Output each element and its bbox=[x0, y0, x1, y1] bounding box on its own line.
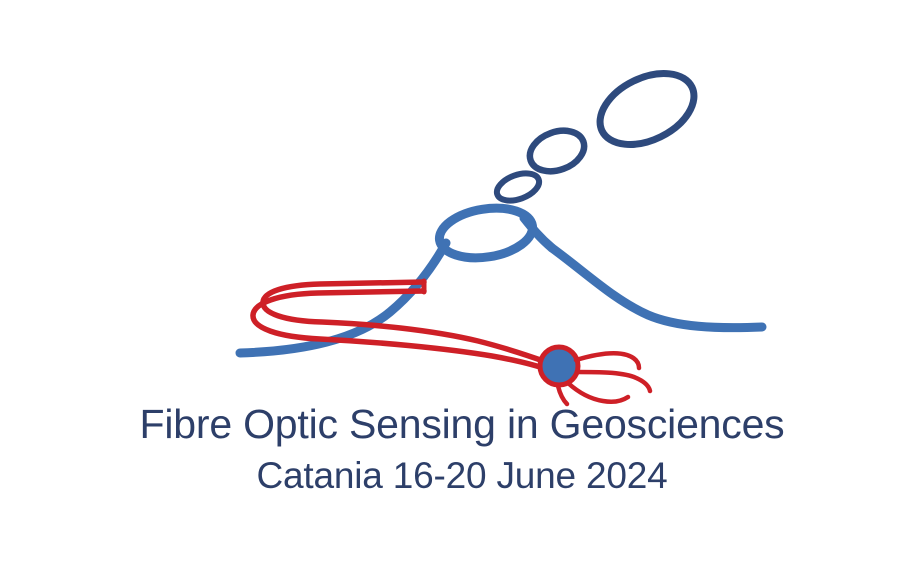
fibre-strand-2 bbox=[577, 372, 650, 391]
plume-bubble-medium-icon bbox=[524, 124, 590, 179]
plume-bubble-large-icon bbox=[588, 59, 705, 159]
fibre-strand-1 bbox=[576, 353, 639, 368]
sensor-node-ring bbox=[540, 347, 578, 385]
conference-subtitle: Catania 16-20 June 2024 bbox=[0, 457, 924, 494]
conference-title: Fibre Optic Sensing in Geosciences bbox=[0, 404, 924, 445]
logo-canvas: Fibre Optic Sensing in Geosciences Catan… bbox=[0, 0, 924, 579]
crater-rim-ellipse bbox=[436, 202, 536, 264]
logo-text-block: Fibre Optic Sensing in Geosciences Catan… bbox=[0, 404, 924, 494]
ground-line-right bbox=[552, 248, 762, 328]
fibre-strand-3 bbox=[568, 383, 628, 402]
plume-bubble-small-icon bbox=[493, 168, 543, 206]
